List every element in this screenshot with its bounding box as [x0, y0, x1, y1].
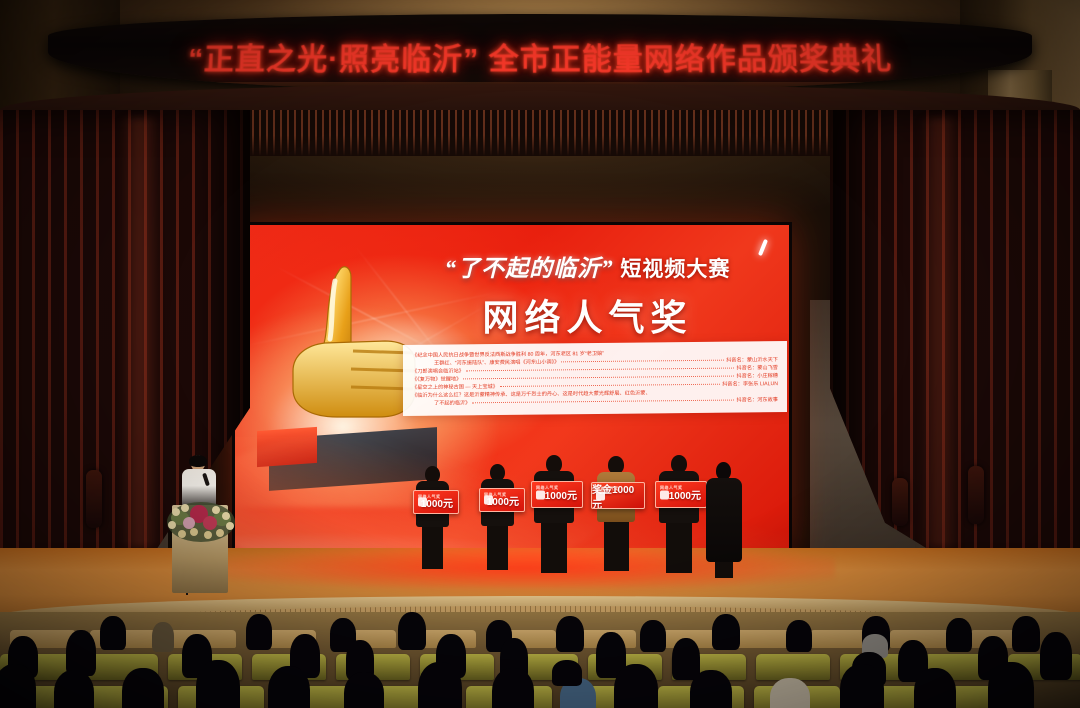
audience-member	[1012, 616, 1040, 652]
audience-member	[122, 668, 164, 708]
leader-dots	[472, 400, 734, 404]
audience-member	[492, 668, 534, 708]
audience-member	[1040, 632, 1072, 680]
person-body	[706, 478, 742, 562]
award-winner: 网络人气奖 1000元	[659, 455, 699, 573]
prize-card: 网络人气奖 1000元	[655, 481, 707, 508]
award-winner-name: 小庄稼穗	[757, 372, 778, 380]
prize-card: 网络人气奖 1000元	[413, 490, 459, 514]
audience-member	[786, 620, 812, 652]
audience-member	[552, 660, 582, 686]
banner-text: “正直之光·照亮临沂” 全市正能量网络作品颁奖典礼	[48, 34, 1032, 78]
leader-dots	[463, 376, 734, 380]
award-list-panel: 《纪念中国人民抗日战争暨世界反法西斯战争胜利 80 周年，河东老区 81 岁“老…	[403, 341, 787, 416]
audience-member	[196, 660, 240, 708]
curtain-sheen-left	[120, 118, 160, 548]
audience-member	[640, 620, 666, 652]
audience-seating	[0, 612, 1080, 708]
person-legs	[422, 527, 443, 569]
person-legs	[604, 522, 629, 571]
curtain-tieback	[892, 478, 908, 526]
award-winner-label: 抖音名：	[736, 372, 757, 380]
award-winner-name: 蒙山飞雪	[757, 364, 778, 372]
led-title-banner: “正直之光·照亮临沂” 全市正能量网络作品颁奖典礼	[48, 14, 1032, 92]
prize-logo-icon	[536, 490, 545, 499]
leader-dots	[500, 384, 720, 387]
audience-member	[398, 612, 426, 650]
award-work-title-cont: 了不起的临沂》	[434, 400, 470, 408]
curtain-sheen-right	[920, 118, 960, 548]
audience-member	[152, 622, 174, 652]
audience-member	[246, 614, 272, 650]
prize-logo-icon	[484, 496, 493, 505]
flower-arrangement-icon	[158, 492, 244, 548]
audience-member	[100, 616, 126, 650]
award-winner-label: 抖音名：	[726, 356, 747, 364]
award-winner: 网络人气奖 1000元	[481, 464, 514, 570]
award-winner-label: 抖音名：	[736, 364, 757, 372]
person-legs	[541, 523, 567, 573]
auditorium-stage-photo: “正直之光·照亮临沂” 全市正能量网络作品颁奖典礼	[0, 0, 1080, 708]
audience-member	[344, 672, 384, 708]
audience-member	[840, 664, 884, 708]
prize-card: 网络人气奖 1000元	[531, 481, 583, 508]
audience-member	[556, 616, 584, 652]
audience-member	[914, 668, 956, 708]
audience-member	[268, 666, 310, 708]
led-contest-text: 短视频大赛	[620, 258, 730, 281]
stage-staff	[706, 462, 742, 578]
curtain-tieback	[968, 466, 984, 524]
award-winner: 网络人气奖 奖金1000元	[597, 456, 635, 571]
audience-member	[672, 638, 700, 680]
audience-member	[770, 678, 810, 708]
led-headline-block: “了不起的临沂” 短视频大赛 网络人气奖	[395, 249, 780, 341]
audience-member	[418, 662, 462, 708]
audience-member	[54, 670, 94, 708]
audience-member	[712, 614, 740, 650]
award-winner-name: 河东故事	[757, 396, 778, 404]
prize-logo-icon	[660, 490, 669, 499]
person-legs	[487, 526, 508, 570]
prize-card: 网络人气奖 奖金1000元	[591, 482, 645, 509]
person-legs	[666, 523, 692, 573]
flower-arrangement	[158, 492, 244, 548]
award-winner-name: 李张乐 LIALUN	[743, 380, 778, 388]
curtain-tieback	[86, 470, 102, 528]
led-award-title: 网络人气奖	[395, 289, 780, 341]
audience-member	[0, 664, 36, 708]
award-entry: 《临沂为什么这么红？这是沂蒙精神传承、这是万千烈士的丹心、这是时代趋大蒙光辉舒展…	[412, 388, 778, 408]
stage-light-pool	[215, 548, 835, 588]
award-winner: 网络人气奖 1000元	[534, 455, 574, 573]
led-quote-text: “了不起的临沂”	[445, 256, 614, 281]
audience-member	[946, 618, 972, 652]
leader-dots	[466, 368, 735, 372]
award-work-title-cont: 王群红、“河东振陆队”、康安费民演唱《河东山小调》》	[434, 358, 559, 367]
award-winner-label: 抖音名：	[722, 381, 743, 389]
award-winner-label: 抖音名：	[736, 397, 757, 405]
audience-member	[988, 662, 1034, 708]
host-hair	[189, 455, 207, 467]
prize-card: 网络人气奖 1000元	[479, 488, 525, 512]
audience-member	[614, 664, 658, 708]
award-winner: 网络人气奖 1000元	[416, 466, 449, 569]
led-subtitle: “了不起的临沂” 短视频大赛	[395, 249, 780, 283]
auditorium-seat	[756, 654, 830, 680]
leader-dots	[561, 360, 724, 363]
prize-logo-icon	[596, 491, 605, 500]
prize-logo-icon	[418, 498, 427, 507]
person-legs	[715, 562, 733, 578]
audience-member	[690, 670, 732, 708]
